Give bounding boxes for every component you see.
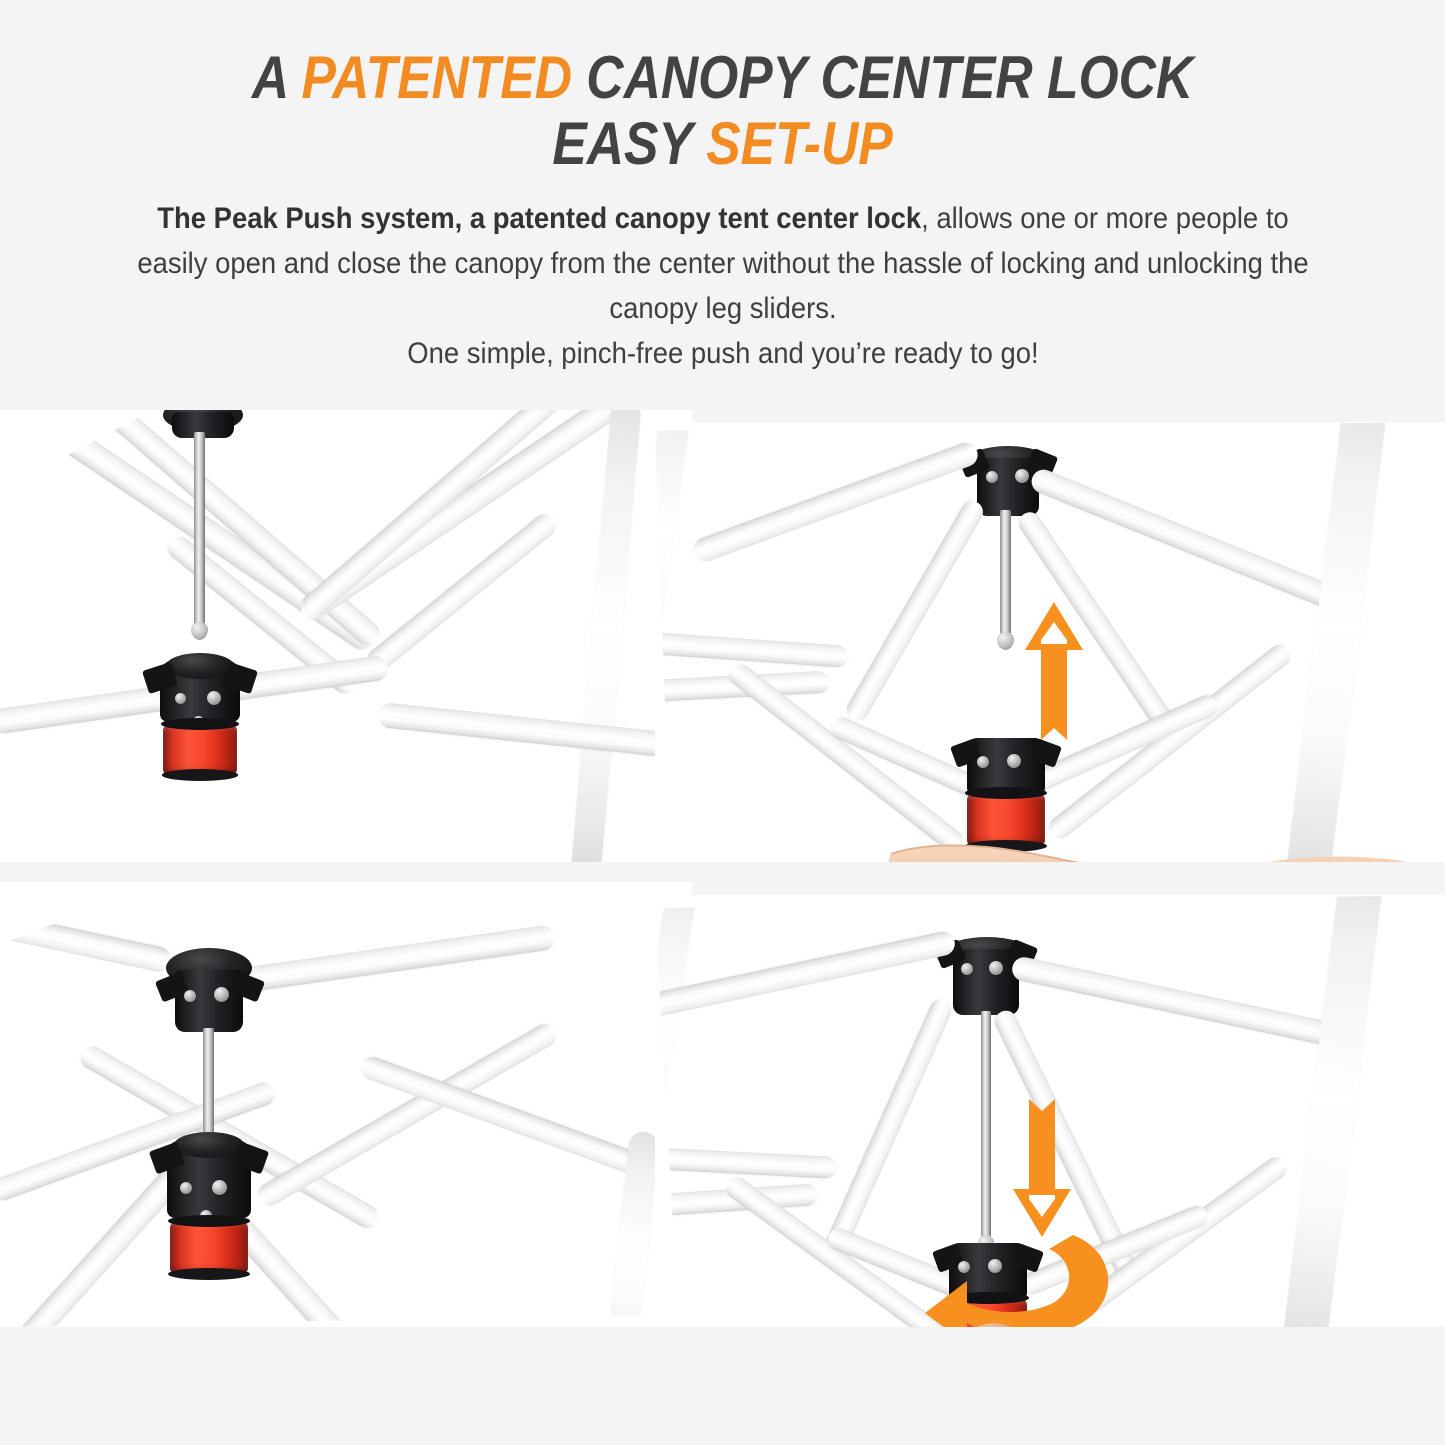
leg-pole xyxy=(568,410,641,862)
panel-4-photo xyxy=(655,895,1445,1327)
center-lock-crown xyxy=(166,653,234,679)
title-text-c: EASY xyxy=(552,110,706,177)
panel-canopy-frame-twist-down xyxy=(655,895,1445,1327)
hub-rivet xyxy=(214,987,229,1002)
title-line-1: A PATENTED CANOPY CENTER LOCK xyxy=(252,44,1193,111)
panel-canopy-frame-locked xyxy=(0,882,692,1327)
truss-bar xyxy=(377,702,692,761)
truss-bar xyxy=(1010,955,1338,1047)
panel-3-photo xyxy=(0,882,692,1327)
leg-pole xyxy=(655,422,695,711)
hub-rivet xyxy=(184,990,196,1002)
arrow-up-icon xyxy=(1023,600,1085,748)
subtitle-closing-line: One simple, pinch-free push and you’re r… xyxy=(407,337,1038,370)
lock-rivet xyxy=(977,756,989,768)
hub-rivet xyxy=(1015,469,1029,483)
truss-bar xyxy=(0,410,380,654)
panel-2-photo xyxy=(655,422,1445,862)
push-rod xyxy=(981,1011,991,1241)
image-panel-grid xyxy=(0,400,1445,1445)
push-rod-tip xyxy=(191,622,208,640)
top-hub-body xyxy=(175,970,243,1032)
arrow-down-icon xyxy=(1011,1091,1073,1239)
title-line-2: EASY SET-UP xyxy=(101,114,1344,174)
title-text-b: CANOPY CENTER LOCK xyxy=(572,44,1193,111)
panel-1-photo xyxy=(0,410,692,862)
center-lock-red-band xyxy=(170,1222,248,1274)
header-section: A PATENTED CANOPY CENTER LOCK EASY SET-U… xyxy=(0,0,1445,400)
push-rod xyxy=(194,432,205,628)
truss-bar xyxy=(0,882,173,974)
leg-pole xyxy=(1278,895,1385,1327)
leg-pole xyxy=(1282,422,1389,862)
hub-rivet xyxy=(986,471,998,483)
subtitle-paragraph: The Peak Push system, a patented canopy … xyxy=(132,196,1313,376)
title-accent-setup: SET-UP xyxy=(706,110,892,177)
push-rod-tip xyxy=(997,632,1014,650)
hub-rivet xyxy=(989,961,1003,975)
page-title: A PATENTED CANOPY CENTER LOCK EASY SET-U… xyxy=(101,48,1344,174)
title-accent-patented: PATENTED xyxy=(302,44,572,111)
lock-rivet xyxy=(1007,754,1021,768)
truss-bar xyxy=(655,632,849,668)
lock-rivet xyxy=(212,1180,227,1195)
truss-bar xyxy=(843,497,987,725)
hand-pinch-grip xyxy=(893,1315,1143,1327)
truss-bar xyxy=(655,930,957,1022)
push-rod xyxy=(1000,510,1011,638)
truss-bar xyxy=(691,439,981,564)
center-lock-red-band xyxy=(163,725,237,775)
center-lock-crown xyxy=(174,1132,244,1158)
lock-rivet xyxy=(175,693,186,704)
lock-rivet xyxy=(180,1182,192,1194)
panel-canopy-frame-closed xyxy=(0,410,692,862)
panel-canopy-frame-push-up xyxy=(655,422,1445,862)
truss-bar xyxy=(655,1147,837,1179)
subtitle-lead: The Peak Push system, a patented canopy … xyxy=(157,202,921,235)
title-text-a: A xyxy=(252,44,302,111)
push-rod xyxy=(203,1028,214,1146)
hub-rivet xyxy=(961,963,973,975)
arrow-rotate-icon xyxy=(923,1223,1123,1327)
hand-open-palm xyxy=(883,818,1443,862)
truss-bar xyxy=(226,924,556,995)
lock-rivet xyxy=(207,691,221,705)
